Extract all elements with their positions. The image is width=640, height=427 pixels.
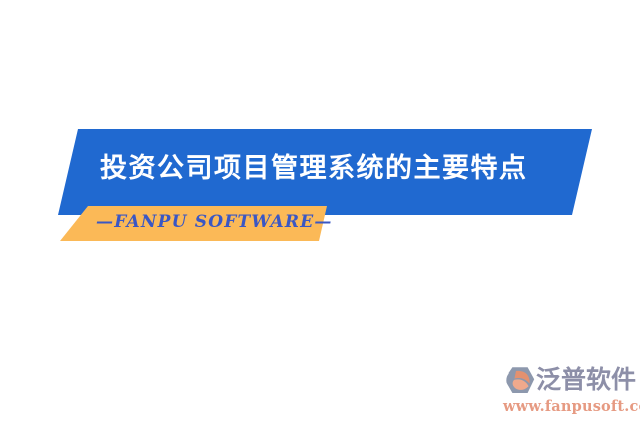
logo-company-name: 泛普软件 [536, 364, 636, 396]
fanpu-logo: 泛普软件 www.fanpusoft.com [500, 364, 636, 420]
slide-canvas: 投资公司项目管理系统的主要特点 —FANPU SOFTWARE— 泛普软件 ww… [0, 0, 640, 427]
logo-website-url: www.fanpusoft.com [503, 398, 640, 415]
brand-subtitle: —FANPU SOFTWARE— [96, 212, 333, 232]
fanpu-logo-mark-icon [503, 366, 535, 396]
page-title: 投资公司项目管理系统的主要特点 [100, 152, 560, 186]
